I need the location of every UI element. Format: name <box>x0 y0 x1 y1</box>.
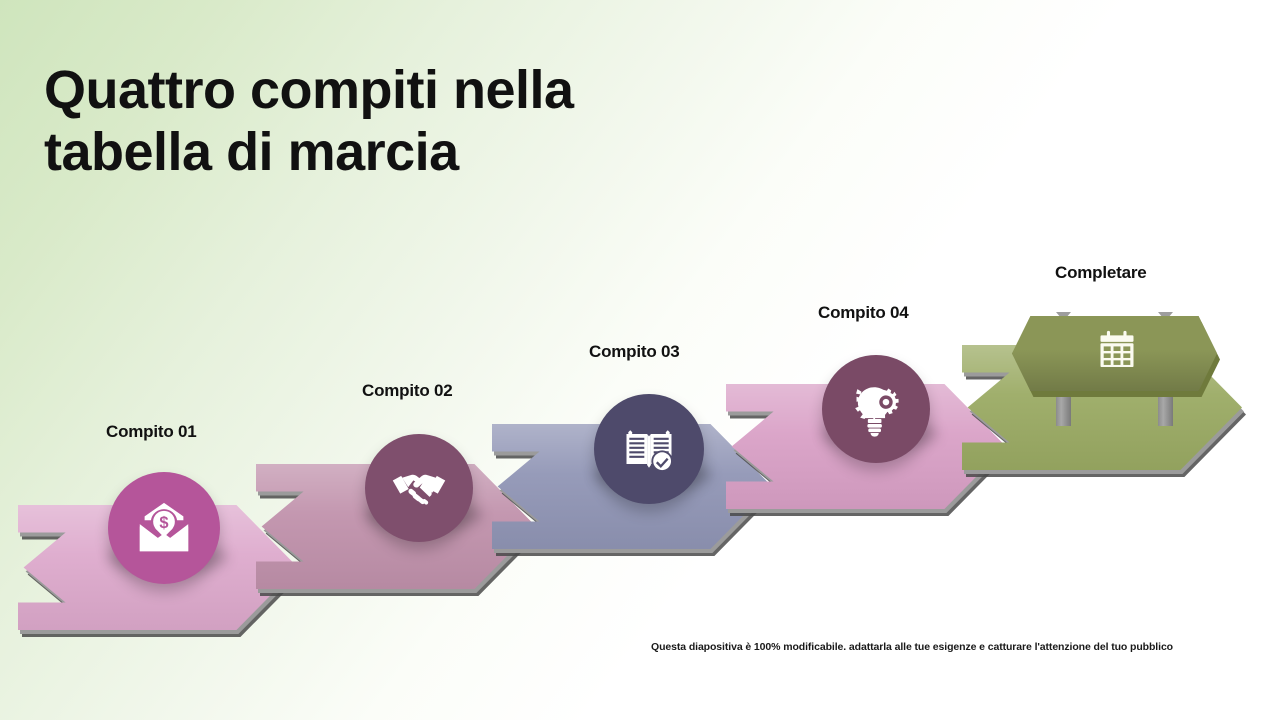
envelope-money-icon: $ <box>133 497 195 559</box>
step-3-label: Compito 03 <box>589 342 680 362</box>
step-2-label: Compito 02 <box>362 381 453 401</box>
book-check-icon <box>619 419 679 479</box>
step-4-label: Compito 04 <box>818 303 909 323</box>
footer-note: Questa diapositiva è 100% modificabile. … <box>632 641 1192 653</box>
final-label: Completare <box>1055 263 1147 283</box>
step-1-badge[interactable]: $ <box>108 472 220 584</box>
slide-canvas: Quattro compiti nella tabella di marcia … <box>0 0 1280 720</box>
step-2-badge[interactable] <box>365 434 473 542</box>
step-3-badge[interactable] <box>594 394 704 504</box>
handshake-icon <box>389 458 449 518</box>
step-4-badge[interactable] <box>822 355 930 463</box>
step-1-label: Compito 01 <box>106 422 197 442</box>
calendar-icon <box>1095 329 1139 378</box>
lightbulb-gears-icon <box>847 380 905 438</box>
sign-board[interactable] <box>1012 316 1217 391</box>
svg-text:$: $ <box>159 514 168 532</box>
roadmap-diagram: Compito 01 <box>0 0 1280 720</box>
